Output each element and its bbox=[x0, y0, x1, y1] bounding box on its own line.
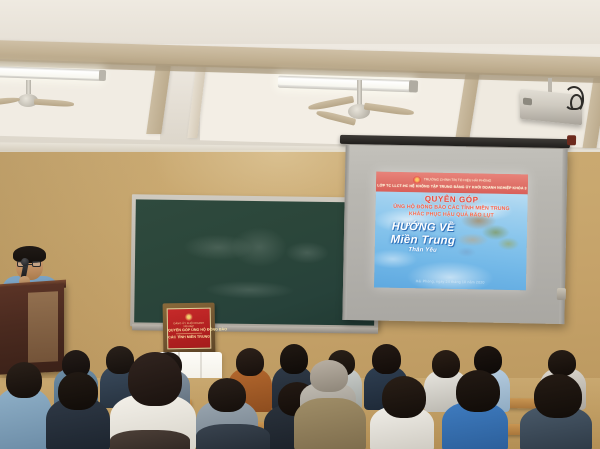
chalk-smudge bbox=[204, 280, 294, 299]
sign-line-1: QUYÊN GÓP ỦNG HỘ ĐỒNG BÀO bbox=[168, 328, 210, 333]
audience-head bbox=[6, 362, 42, 398]
screen-canvas: TRƯỜNG CHÍNH TRỊ TÔ HIỆU HẢI PHÒNG LỚP T… bbox=[342, 145, 567, 324]
slide-header-org-row: TRƯỜNG CHÍNH TRỊ TÔ HIỆU HẢI PHÒNG bbox=[413, 176, 491, 185]
sign-face: ĐẢNG ỦY KHỐI DOANH NGHIỆP QUYÊN GÓP ỦNG … bbox=[167, 308, 212, 350]
fan-downrod bbox=[26, 80, 31, 94]
slide-organization: TRƯỜNG CHÍNH TRỊ TÔ HIỆU HẢI PHÒNG bbox=[424, 178, 491, 183]
lecture-hall-scene: TRƯỜNG CHÍNH TRỊ TÔ HIỆU HẢI PHÒNG LỚP T… bbox=[0, 0, 600, 449]
tube-body bbox=[0, 68, 102, 79]
tube-end-cap bbox=[99, 70, 106, 81]
audience-head bbox=[456, 370, 500, 412]
tube-body bbox=[278, 78, 413, 90]
audience-head-bald bbox=[310, 360, 348, 392]
audience-head bbox=[58, 372, 98, 410]
projector-lens bbox=[523, 98, 532, 106]
audience-head bbox=[372, 344, 401, 374]
audience-head bbox=[382, 376, 426, 418]
audience-head bbox=[236, 348, 264, 376]
screen-edge bbox=[342, 145, 349, 320]
ceiling bbox=[0, 0, 600, 152]
audience-head bbox=[280, 344, 308, 374]
projection-screen: TRƯỜNG CHÍNH TRỊ TÔ HIỆU HẢI PHÒNG LỚP T… bbox=[344, 141, 566, 324]
audience-member bbox=[110, 430, 190, 449]
glasses-lens bbox=[32, 261, 41, 267]
projected-slide: TRƯỜNG CHÍNH TRỊ TÔ HIỆU HẢI PHÒNG LỚP T… bbox=[374, 171, 528, 290]
audience-head bbox=[208, 378, 246, 412]
ceiling-upper-slab bbox=[0, 0, 600, 44]
projector-cable bbox=[570, 94, 583, 112]
slide-script-line-1: HƯỚNG VỀ bbox=[381, 222, 465, 235]
school-logo-icon bbox=[413, 176, 421, 183]
party-emblem-icon bbox=[185, 313, 193, 321]
audience-head bbox=[128, 352, 182, 406]
slide-script-line-2: Miền Trung bbox=[381, 234, 465, 248]
audience-head bbox=[534, 374, 582, 418]
audience-member bbox=[294, 398, 366, 449]
slide-script-block: HƯỚNG VỀ Miền Trung Thân Yêu bbox=[381, 222, 466, 255]
slide-class-banner: LỚP TC LLCT-HC HỆ KHÔNG TẬP TRUNG ĐẢNG Ủ… bbox=[377, 184, 526, 191]
fan-downrod bbox=[357, 80, 362, 106]
screen-weight-bar bbox=[557, 288, 566, 300]
audience-head bbox=[548, 350, 576, 376]
donation-sign: ĐẢNG ỦY KHỐI DOANH NGHIỆP QUYÊN GÓP ỦNG … bbox=[163, 303, 216, 356]
sign-divider bbox=[176, 333, 202, 334]
audience-head bbox=[432, 350, 460, 378]
tube-end-cap bbox=[409, 80, 418, 92]
screen-roller-end-cap bbox=[567, 135, 576, 145]
audience-member bbox=[196, 424, 270, 449]
chalk-smudge bbox=[231, 227, 288, 268]
chalk-smudge bbox=[285, 241, 329, 264]
sign-line-2: CÁC TỈNH MIỀN TRUNG bbox=[168, 335, 210, 340]
podium-front-panel bbox=[28, 291, 58, 363]
slide-body: QUYÊN GÓP ỦNG HỘ ĐỒNG BÀO CÁC TỈNH MIỀN … bbox=[374, 191, 528, 290]
